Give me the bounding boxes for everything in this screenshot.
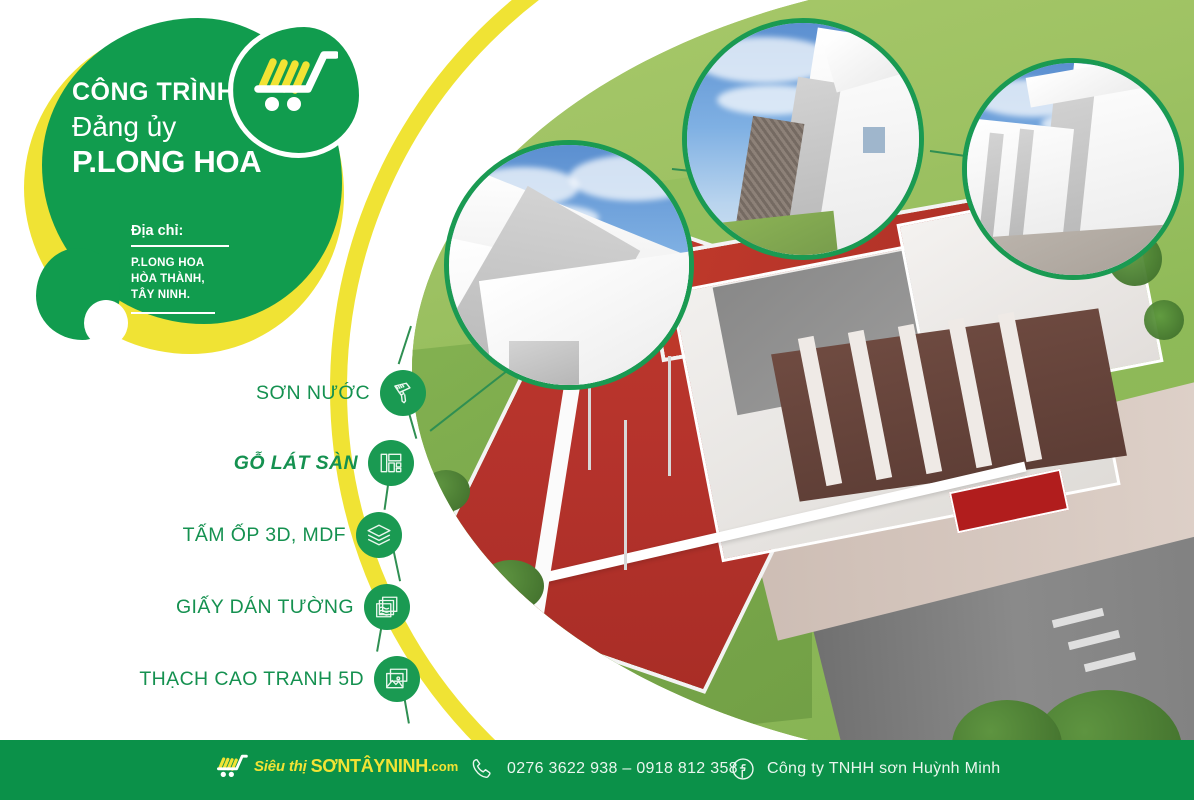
footer-logo-part3: .com bbox=[428, 759, 458, 774]
service-item-thach-cao-tranh-5d[interactable]: THẠCH CAO TRANH 5D bbox=[120, 656, 420, 702]
address-line: P.LONG HOA bbox=[131, 255, 291, 271]
footer-facebook-text: Công ty TNHH sơn Huỳnh Minh bbox=[767, 760, 1001, 778]
service-list: SƠN NƯỚC GỖ LÁT SÀN bbox=[120, 360, 450, 700]
address-line: TÂY NINH. bbox=[131, 287, 291, 303]
layers-stack-icon bbox=[356, 512, 402, 558]
footer-logo-part1: Siêu thị bbox=[254, 758, 307, 775]
footer-facebook[interactable]: Công ty TNHH sơn Huỳnh Minh bbox=[730, 756, 1001, 782]
brand-subtitle: Đảng ủy bbox=[72, 109, 322, 144]
service-label: THẠCH CAO TRANH 5D bbox=[139, 668, 364, 691]
service-item-son-nuoc[interactable]: SƠN NƯỚC bbox=[120, 370, 426, 416]
address-label: Địa chỉ: bbox=[131, 224, 291, 239]
address-rule-top bbox=[131, 245, 229, 247]
paint-brush-icon bbox=[380, 370, 426, 416]
brand-text-block: CÔNG TRÌNH Đảng ủy P.LONG HOA bbox=[72, 80, 322, 179]
footer-phone[interactable]: 0276 3622 938 – 0918 812 358 bbox=[470, 756, 738, 782]
floor-tiles-icon bbox=[368, 440, 414, 486]
shopping-cart-icon bbox=[210, 752, 252, 780]
photo-inset-1 bbox=[444, 140, 694, 390]
brand-title: P.LONG HOA bbox=[72, 145, 322, 179]
poster-canvas: CÔNG TRÌNH Đảng ủy P.LONG HOA Địa chỉ: P… bbox=[0, 0, 1194, 800]
address-rule-bottom bbox=[131, 312, 215, 314]
service-item-tam-op-3d-mdf[interactable]: TẤM ỐP 3D, MDF bbox=[120, 512, 402, 558]
service-label: TẤM ỐP 3D, MDF bbox=[183, 524, 346, 547]
footer-logo-part2: SƠNTÂYNINH bbox=[311, 756, 428, 777]
facebook-icon bbox=[730, 756, 756, 782]
brand-eyebrow: CÔNG TRÌNH bbox=[72, 80, 322, 105]
photo-inset-3 bbox=[962, 58, 1184, 280]
footer-phone-text: 0276 3622 938 – 0918 812 358 bbox=[507, 760, 738, 778]
phone-icon bbox=[470, 756, 496, 782]
address-block: Địa chỉ: P.LONG HOA HÒA THÀNH, TÂY NINH. bbox=[131, 224, 291, 314]
service-item-go-lat-san[interactable]: GỖ LÁT SÀN bbox=[120, 440, 414, 486]
brand-blob-dot bbox=[84, 300, 128, 346]
service-item-giay-dan-tuong[interactable]: GIẤY DÁN TƯỜNG bbox=[120, 584, 410, 630]
photo-inset-2 bbox=[682, 18, 924, 260]
wallpaper-sheets-icon bbox=[364, 584, 410, 630]
service-label: GIẤY DÁN TƯỜNG bbox=[176, 596, 354, 619]
address-line: HÒA THÀNH, bbox=[131, 271, 291, 287]
footer-logo[interactable]: Siêu thị SƠNTÂYNINH .com bbox=[210, 752, 458, 780]
picture-frame-icon bbox=[374, 656, 420, 702]
service-label: GỖ LÁT SÀN bbox=[234, 452, 358, 475]
service-label: SƠN NƯỚC bbox=[256, 382, 370, 405]
